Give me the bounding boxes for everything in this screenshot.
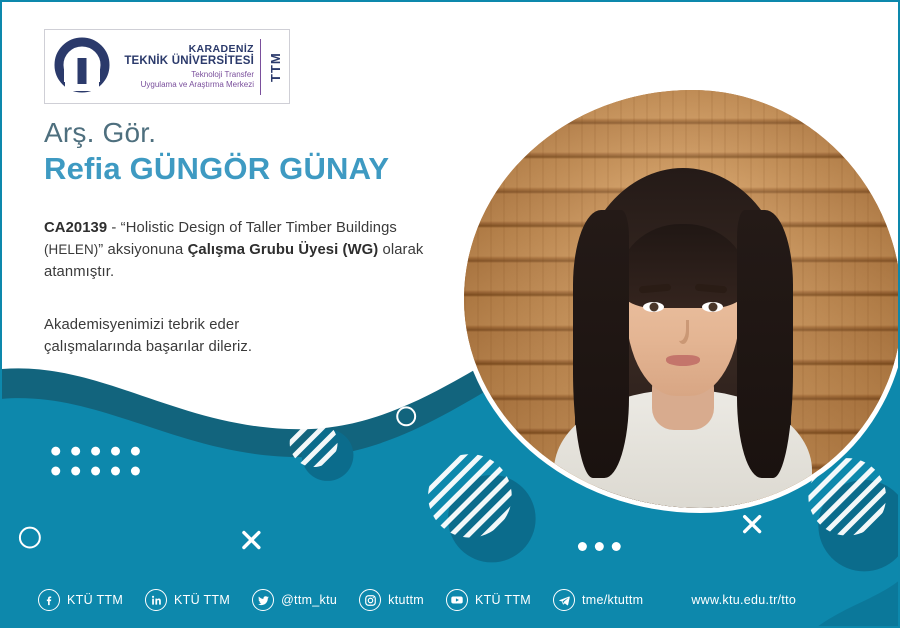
youtube-icon bbox=[446, 589, 468, 611]
striped-circle-1 bbox=[290, 419, 338, 467]
role-title: Çalışma Grubu Üyesi (WG) bbox=[188, 242, 379, 258]
social-youtube[interactable]: KTÜ TTM bbox=[446, 589, 531, 611]
hair-side-left bbox=[573, 210, 629, 478]
announcement-paragraph: CA20139 - “Holistic Design of Taller Tim… bbox=[44, 217, 444, 284]
instagram-icon bbox=[359, 589, 381, 611]
action-title: “Holistic Design of Taller Timber Buildi… bbox=[121, 220, 397, 236]
body-block: CA20139 - “Holistic Design of Taller Tim… bbox=[44, 217, 444, 358]
portrait-photo bbox=[464, 90, 900, 508]
action-code: CA20139 bbox=[44, 220, 107, 236]
ktu-circular-monogram-icon bbox=[51, 36, 113, 98]
logo-line-teknik-universitesi: TEKNİK ÜNİVERSİTESİ bbox=[124, 55, 254, 69]
dash-separator: - bbox=[107, 220, 120, 236]
eye-right bbox=[702, 302, 723, 312]
logo-ttm-abbrev: TTM bbox=[268, 39, 283, 95]
person-name: Refia GÜNGÖR GÜNAY bbox=[44, 151, 389, 187]
action-acronym: (HELEN) bbox=[44, 242, 98, 257]
logo-line-karadeniz: KARADENİZ bbox=[189, 43, 254, 55]
facebook-handle: KTÜ TTM bbox=[67, 593, 123, 607]
twitter-icon bbox=[252, 589, 274, 611]
logo-divider bbox=[260, 39, 261, 95]
linkedin-handle: KTÜ TTM bbox=[174, 593, 230, 607]
person-figure bbox=[464, 90, 900, 508]
mouth bbox=[666, 355, 700, 366]
telegram-icon bbox=[553, 589, 575, 611]
title-block: Arş. Gör. Refia GÜNGÖR GÜNAY bbox=[44, 118, 389, 186]
logo-line-uygulama-merkezi: Uygulama ve Araştırma Merkezi bbox=[141, 80, 254, 90]
social-telegram[interactable]: tme/ktuttm bbox=[553, 589, 643, 611]
linkedin-icon bbox=[145, 589, 167, 611]
facebook-icon bbox=[38, 589, 60, 611]
instagram-handle: ktuttm bbox=[388, 593, 424, 607]
youtube-handle: KTÜ TTM bbox=[475, 593, 531, 607]
social-facebook[interactable]: KTÜ TTM bbox=[38, 589, 123, 611]
eye-left bbox=[643, 302, 664, 312]
ktu-ttm-logo: KARADENİZ TEKNİK ÜNİVERSİTESİ Teknoloji … bbox=[44, 29, 290, 104]
action-mid-text: ” aksiyonuna bbox=[98, 242, 187, 258]
logo-line-teknoloji-transfer: Teknoloji Transfer bbox=[191, 70, 254, 80]
social-twitter[interactable]: @ttm_ktu bbox=[252, 589, 337, 611]
nose bbox=[677, 320, 689, 344]
logo-text-block: KARADENİZ TEKNİK ÜNİVERSİTESİ Teknoloji … bbox=[113, 43, 260, 91]
telegram-handle: tme/ktuttm bbox=[582, 593, 643, 607]
social-instagram[interactable]: ktuttm bbox=[359, 589, 424, 611]
announcement-poster: KARADENİZ TEKNİK ÜNİVERSİTESİ Teknoloji … bbox=[0, 0, 900, 628]
twitter-handle: @ttm_ktu bbox=[281, 593, 337, 607]
congrats-line-2: çalışmalarında başarılar dileriz. bbox=[44, 339, 252, 355]
dot-trio bbox=[578, 542, 621, 551]
academic-title: Arş. Gör. bbox=[44, 118, 389, 149]
social-footer: KTÜ TTM KTÜ TTM @ttm_ktu ktuttm KTÜ TTM bbox=[2, 574, 898, 626]
website-url[interactable]: www.ktu.edu.tr/tto bbox=[691, 593, 796, 607]
hair-side-right bbox=[737, 210, 793, 478]
social-linkedin[interactable]: KTÜ TTM bbox=[145, 589, 230, 611]
congrats-line-1: Akademisyenimizi tebrik eder bbox=[44, 317, 239, 333]
congratulation-paragraph: Akademisyenimizi tebrik eder çalışmaları… bbox=[44, 314, 444, 358]
